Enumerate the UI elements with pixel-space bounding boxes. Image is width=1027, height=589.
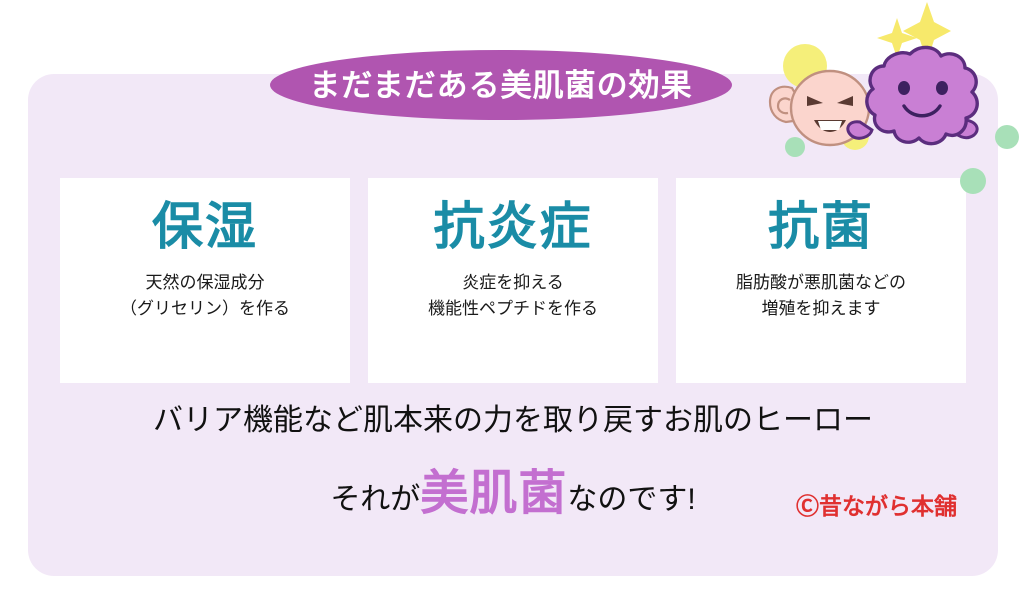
benefit-card-antibacterial: 抗菌 脂肪酸が悪肌菌などの 増殖を抑えます [676, 178, 966, 383]
copyright-credit: Ⓒ昔ながら本舗 [796, 487, 957, 521]
section-title-text: まだまだある美肌菌の効果 [309, 70, 692, 101]
closing-suffix: なのです! [567, 483, 695, 516]
bacteria-eye-right [936, 81, 948, 95]
mascot-illustration [752, 40, 992, 150]
card-description-line2: 増殖を抑えます [736, 296, 906, 322]
benefit-card-anti-inflammatory: 抗炎症 炎症を抑える 機能性ペプチドを作る [368, 178, 658, 383]
card-heading: 抗炎症 [433, 200, 592, 254]
card-heading: 抗菌 [768, 200, 874, 254]
card-description: 脂肪酸が悪肌菌などの 増殖を抑えます [736, 270, 906, 323]
mascot-svg [752, 40, 992, 150]
confetti-dot-green-2 [995, 125, 1019, 149]
benefit-card-moisture: 保湿 天然の保湿成分 （グリセリン）を作る [60, 178, 350, 383]
card-heading: 保湿 [152, 200, 258, 254]
closing-highlight: 美肌菌 [420, 467, 567, 520]
tagline-text: バリア機能など肌本来の力を取り戻すお肌のヒーロー [28, 403, 998, 439]
bacteria-body [867, 47, 977, 143]
card-description: 天然の保湿成分 （グリセリン）を作る [120, 270, 290, 323]
section-title-badge: まだまだある美肌菌の効果 [270, 50, 732, 120]
closing-prefix: それが [330, 483, 420, 516]
bacteria-arm-left [848, 122, 872, 138]
card-description-line1: 炎症を抑える [428, 270, 598, 296]
card-description-line1: 天然の保湿成分 [120, 270, 290, 296]
bacteria-eye-left [898, 81, 910, 95]
card-description: 炎症を抑える 機能性ペプチドを作る [428, 270, 598, 323]
mascot-teeth [818, 121, 842, 130]
beauty-bacteria-mascot [848, 47, 977, 143]
benefit-card-list: 保湿 天然の保湿成分 （グリセリン）を作る 抗炎症 炎症を抑える 機能性ペプチド… [60, 178, 966, 383]
card-description-line2: （グリセリン）を作る [120, 296, 290, 322]
card-description-line1: 脂肪酸が悪肌菌などの [736, 270, 906, 296]
card-description-line2: 機能性ペプチドを作る [428, 296, 598, 322]
